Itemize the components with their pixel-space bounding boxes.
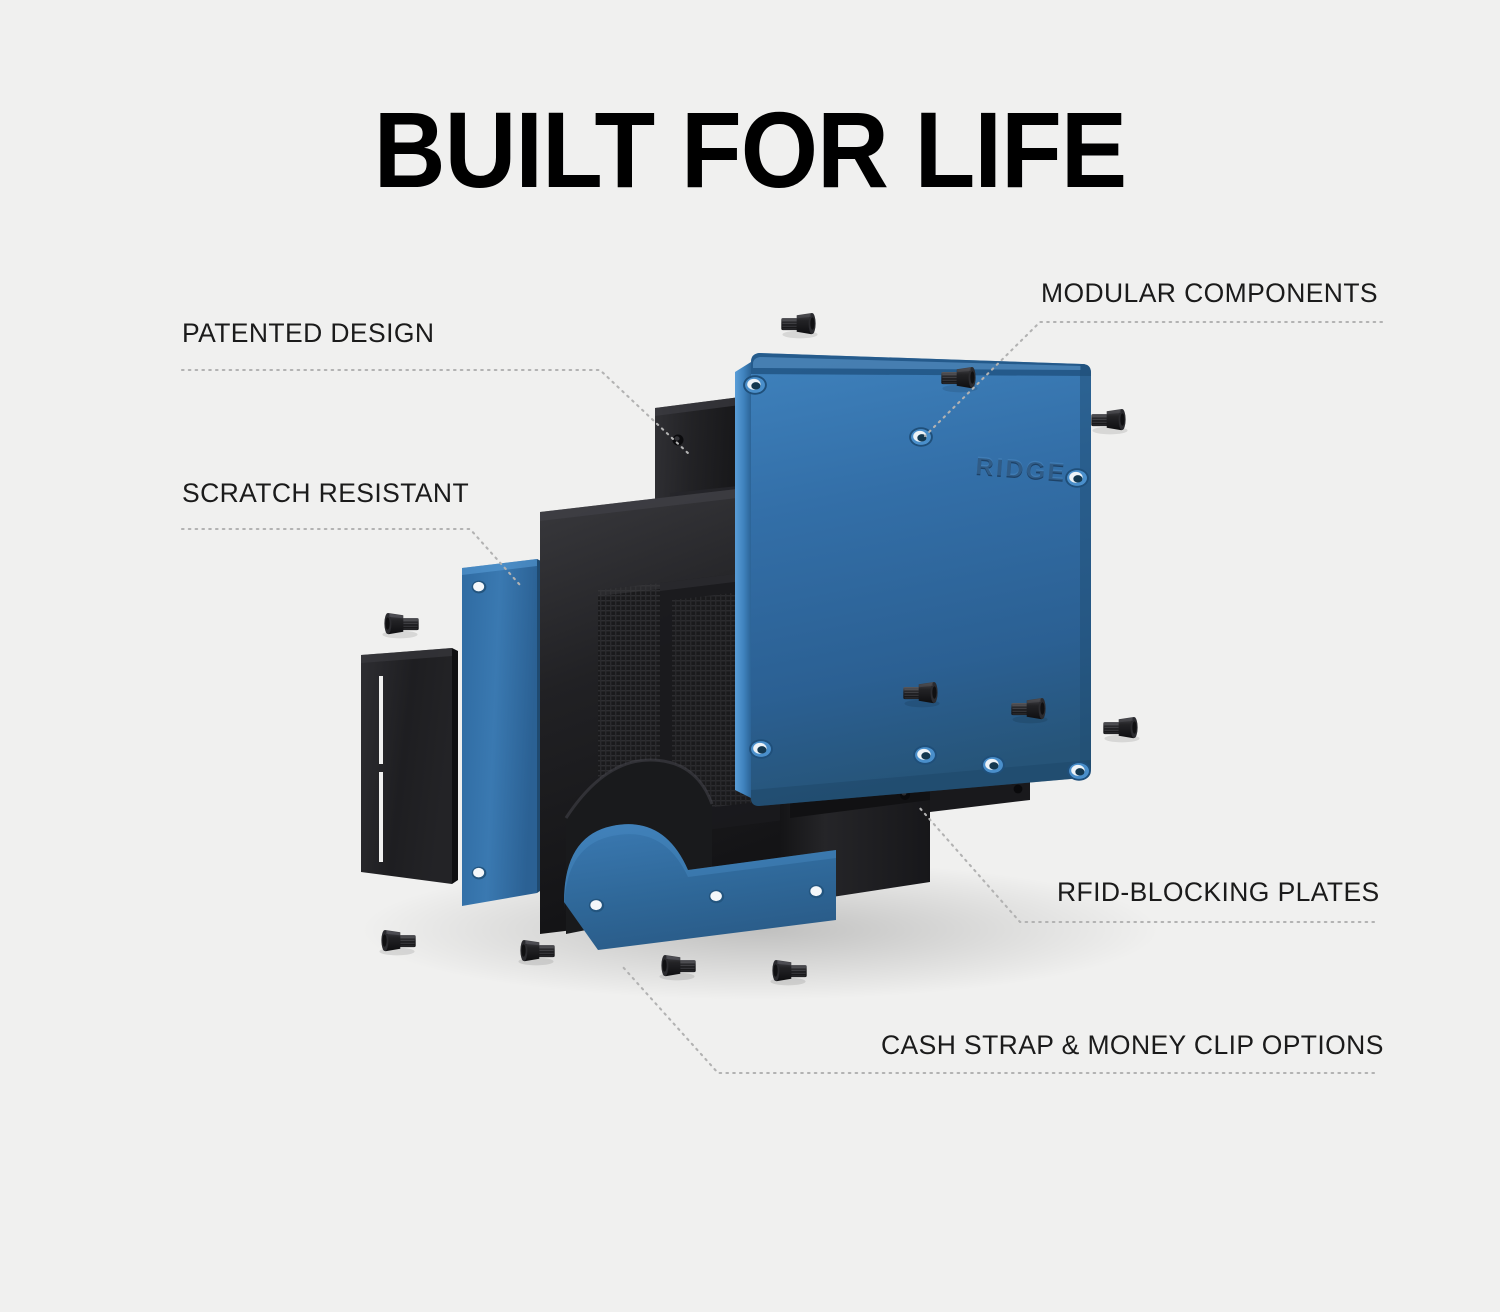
component-rear-blue-plate <box>462 559 543 906</box>
component-front-blue-plate: RIDGE RIDGE <box>735 353 1091 806</box>
product-feature-diagram: BUILT FOR LIFE <box>0 0 1500 1312</box>
callout-label-scratch-resistant: SCRATCH RESISTANT <box>182 478 469 509</box>
exploded-wallet-illustration: RIDGE RIDGE <box>0 0 1500 1312</box>
callout-label-cash-strap-money-clip: CASH STRAP & MONEY CLIP OPTIONS <box>881 1030 1384 1061</box>
screw-top-3 <box>1091 409 1127 434</box>
screw-top-1 <box>781 313 817 338</box>
callout-label-modular-components: MODULAR COMPONENTS <box>1041 278 1378 309</box>
screw-mid-3 <box>1103 717 1139 742</box>
callout-label-patented-design: PATENTED DESIGN <box>182 318 434 349</box>
screw-left-1 <box>382 613 418 638</box>
component-money-clip <box>361 648 458 884</box>
callout-label-rfid-blocking-plates: RFID-BLOCKING PLATES <box>1057 877 1380 908</box>
